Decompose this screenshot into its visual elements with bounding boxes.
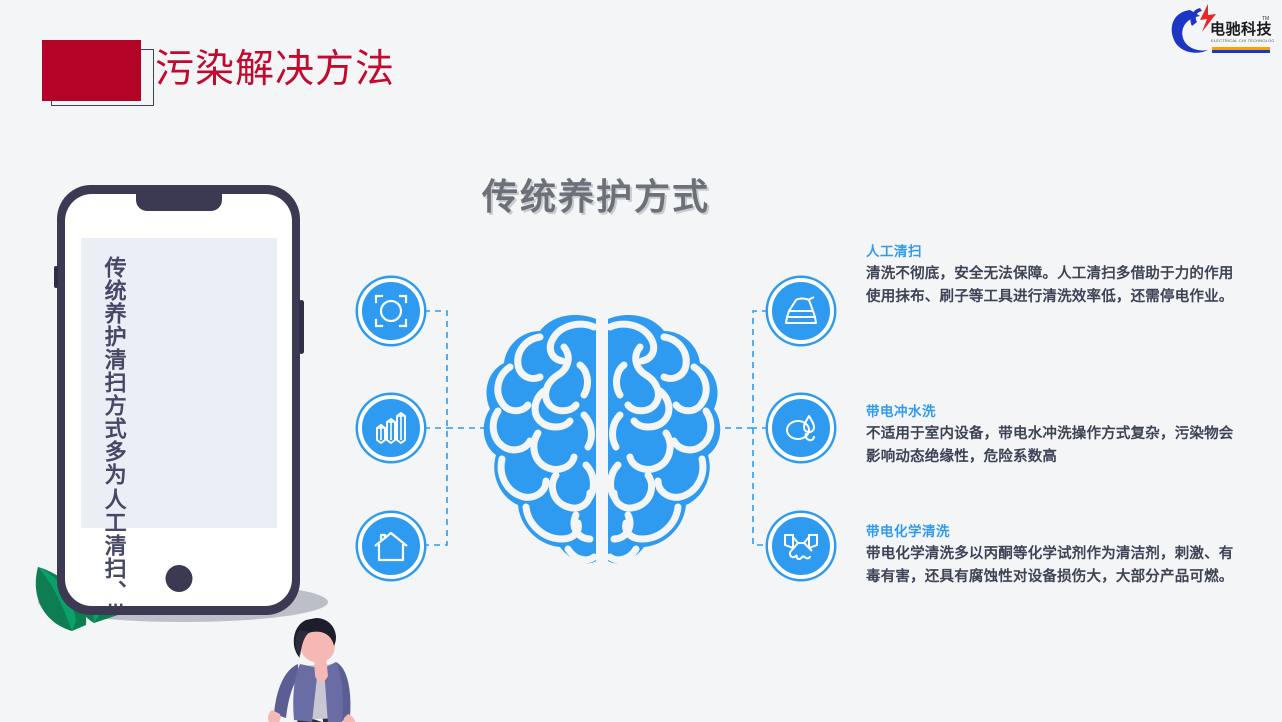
brush-icon	[782, 292, 820, 330]
info-block-body: 带电化学清洗多以丙酮等化学试剂作为清洁剂，刺激、有毒有害，还具有腐蚀性对设备损伤…	[866, 543, 1238, 589]
slide-canvas: 污染解决方法 电驰科技 ELECTRICAL CHI TECHNOLOGY TM…	[0, 0, 1282, 722]
handshake-icon	[782, 527, 820, 565]
icon-button-brush[interactable]	[768, 278, 834, 344]
header-red-box	[42, 40, 141, 101]
phone-screen-area: 传统养护清扫方式多为 人工清扫、带电水洗、 带电化学清洗这三类	[65, 194, 292, 606]
icon-button-bar-chart[interactable]	[358, 395, 424, 461]
info-block-manual-cleaning: 人工清扫 清洗不彻底，安全无法保障。人工清扫多借助于力的作用使用抹布、刷子等工具…	[866, 240, 1238, 309]
phone-side-button-right[interactable]	[299, 300, 304, 354]
info-block-title: 带电化学清洗	[866, 520, 1238, 540]
icon-button-home[interactable]	[358, 513, 424, 579]
info-block-body: 不适用于室内设备，带电水冲洗操作方式复杂，污染物会影响动态绝缘性，危险系数高	[866, 423, 1238, 469]
info-block-body: 清洗不彻底，安全无法保障。人工清扫多借助于力的作用使用抹布、刷子等工具进行清洗效…	[866, 263, 1238, 309]
slide-header: 污染解决方法	[0, 0, 1282, 130]
phone-home-button[interactable]	[165, 565, 192, 592]
phone-side-button-left[interactable]	[54, 266, 58, 288]
phone-frame: 传统养护清扫方式多为 人工清扫、带电水洗、 带电化学清洗这三类	[57, 185, 300, 615]
page-title: 污染解决方法	[155, 44, 395, 96]
home-icon	[372, 527, 410, 565]
icon-button-water-spray[interactable]	[768, 395, 834, 461]
info-block-live-chemical-cleaning: 带电化学清洗 带电化学清洗多以丙酮等化学试剂作为清洁剂，刺激、有毒有害，还具有腐…	[866, 520, 1238, 589]
company-logo: 电驰科技 ELECTRICAL CHI TECHNOLOGY TM	[1162, 2, 1274, 60]
logo-latin-name: ELECTRICAL CHI TECHNOLOGY	[1211, 38, 1274, 43]
phone-text-line-2: 人工清扫、带电水洗、	[101, 488, 126, 606]
section-title-text: 传统养护方式	[482, 168, 710, 220]
phone-content-panel: 传统养护清扫方式多为 人工清扫、带电水洗、 带电化学清洗这三类	[81, 238, 277, 528]
phone-notch	[136, 194, 222, 211]
phone-illustration: 传统养护清扫方式多为 人工清扫、带电水洗、 带电化学清洗这三类	[20, 170, 360, 670]
info-block-title: 人工清扫	[866, 240, 1238, 260]
water-spray-icon	[782, 409, 820, 447]
icon-button-focus-frame[interactable]	[358, 278, 424, 344]
phone-text-line-1: 传统养护清扫方式多为	[101, 256, 126, 486]
icon-button-handshake[interactable]	[768, 513, 834, 579]
bar-chart-icon	[372, 409, 410, 447]
person-illustration	[260, 618, 375, 722]
focus-frame-icon	[372, 292, 410, 330]
logo-tm-mark: TM	[1262, 16, 1269, 22]
logo-chinese-name: 电驰科技	[1210, 20, 1273, 38]
info-block-live-water-wash: 带电冲水洗 不适用于室内设备，带电水冲洗操作方式复杂，污染物会影响动态绝缘性，危…	[866, 400, 1238, 469]
info-block-title: 带电冲水洗	[866, 400, 1238, 420]
brain-illustration	[476, 305, 728, 580]
phone-vertical-text: 传统养护清扫方式多为 人工清扫、带电水洗、 带电化学清洗这三类	[101, 256, 126, 514]
